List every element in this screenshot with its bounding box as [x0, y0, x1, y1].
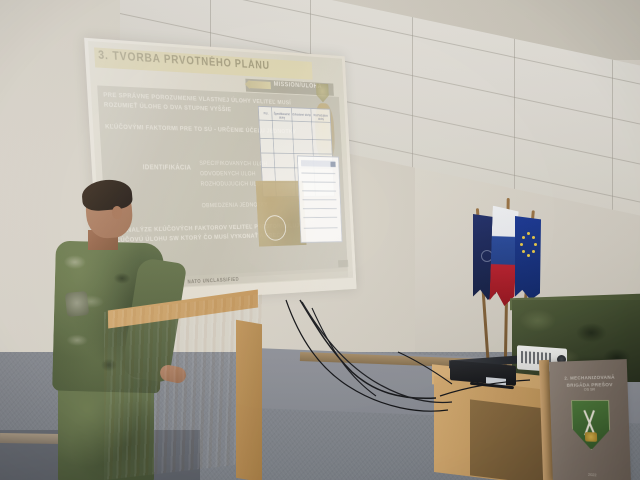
table-header-cell: Rozhodujúce úlohy — [311, 113, 330, 121]
table-header-cell: Odvodené úlohy — [292, 113, 311, 117]
identification-label: IDENTIFIKÁCIA — [143, 164, 192, 171]
doc-badge-icon — [330, 161, 335, 166]
unit-shield-emblem — [571, 400, 611, 451]
table-header-cell: Špecifikované úlohy — [272, 112, 292, 120]
map-highlight-circle — [264, 215, 287, 241]
slide-document-overlay — [297, 155, 342, 243]
unit-information-sign: 2. MECHANIZOVANÁ BRIGÁDA PREŠOV OS SR 20… — [549, 359, 631, 480]
av-table-shelf — [470, 399, 546, 480]
shoulder-patch — [65, 291, 89, 317]
presenter-hair — [81, 178, 133, 212]
eu-flag — [515, 216, 541, 300]
lectern-side-panel — [236, 320, 262, 480]
table-header-cell: Por. — [260, 111, 271, 115]
shield-gold-badge — [585, 432, 597, 442]
presenter-ear — [112, 206, 122, 219]
arrow-left-icon — [249, 81, 271, 89]
slide-bullet: ŠPECIFIKOVANÝCH ÚLOH — [199, 160, 267, 167]
slide-corner-mark — [338, 260, 348, 267]
briefing-room-photo: 3. TVORBA PRVOTNÉHO PLÁNU MISSION/ÚLOHA … — [0, 0, 640, 480]
sign-subheading: OS SR — [575, 387, 605, 391]
slovak-flag — [489, 206, 518, 307]
slide-bullet: ODVODENÝCH ÚLOH — [200, 171, 256, 178]
sign-bottom-text: 2022 — [566, 471, 620, 479]
